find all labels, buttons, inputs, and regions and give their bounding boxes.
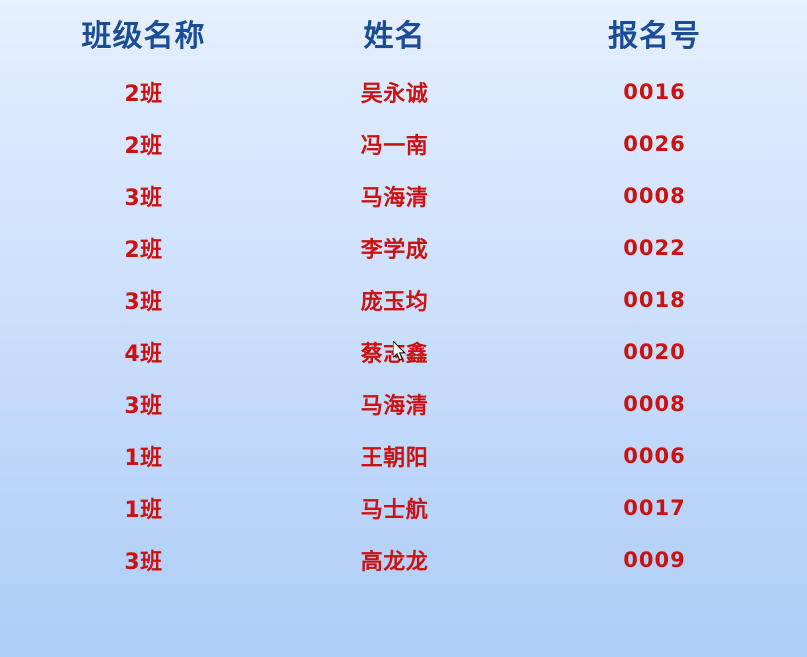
table-row[interactable]: 3班 庞玉均 0018 bbox=[0, 274, 807, 326]
cell-id: 0008 bbox=[502, 184, 807, 208]
table-row[interactable]: 3班 高龙龙 0009 bbox=[0, 534, 807, 586]
cell-name: 马海清 bbox=[287, 180, 502, 212]
table-row[interactable]: 4班 蔡志鑫 0020 bbox=[0, 326, 807, 378]
table-row[interactable]: 2班 李学成 0022 bbox=[0, 222, 807, 274]
cell-class: 2班 bbox=[0, 232, 287, 264]
cell-id: 0022 bbox=[502, 236, 807, 260]
cell-class: 1班 bbox=[0, 440, 287, 472]
cell-name: 马海清 bbox=[287, 388, 502, 420]
cell-name: 李学成 bbox=[287, 232, 502, 264]
table-row[interactable]: 2班 冯一南 0026 bbox=[0, 118, 807, 170]
cell-class: 2班 bbox=[0, 128, 287, 160]
cell-class: 3班 bbox=[0, 544, 287, 576]
cell-id: 0006 bbox=[502, 444, 807, 468]
bottom-control-bar: 开始滚动 班级4 学生28 停止滚动 W 系 统 之 家 bbox=[0, 595, 807, 657]
table-row[interactable]: 1班 王朝阳 0006 bbox=[0, 430, 807, 482]
cell-name: 吴永诚 bbox=[287, 76, 502, 108]
cell-class: 3班 bbox=[0, 284, 287, 316]
cell-id: 0016 bbox=[502, 80, 807, 104]
cell-name: 冯一南 bbox=[287, 128, 502, 160]
column-header-name: 姓名 bbox=[287, 11, 502, 55]
cell-name: 高龙龙 bbox=[287, 544, 502, 576]
cell-id: 0009 bbox=[502, 548, 807, 572]
cell-id: 0020 bbox=[502, 340, 807, 364]
cell-id: 0026 bbox=[502, 132, 807, 156]
cell-id: 0008 bbox=[502, 392, 807, 416]
table-row[interactable]: 2班 吴永诚 0016 bbox=[0, 66, 807, 118]
cell-class: 4班 bbox=[0, 336, 287, 368]
table-row[interactable]: 3班 马海清 0008 bbox=[0, 378, 807, 430]
cell-class: 1班 bbox=[0, 492, 287, 524]
column-header-class: 班级名称 bbox=[0, 11, 287, 55]
cell-id: 0017 bbox=[502, 496, 807, 520]
cell-id: 0018 bbox=[502, 288, 807, 312]
column-header-id: 报名号 bbox=[502, 11, 807, 55]
table-row[interactable]: 1班 马士航 0017 bbox=[0, 482, 807, 534]
cell-class: 3班 bbox=[0, 180, 287, 212]
roster-table: 班级名称 姓名 报名号 2班 吴永诚 0016 2班 冯一南 0026 3班 马… bbox=[0, 0, 807, 586]
cell-name: 蔡志鑫 bbox=[287, 336, 502, 368]
lottery-roster-screen: 班级名称 姓名 报名号 2班 吴永诚 0016 2班 冯一南 0026 3班 马… bbox=[0, 0, 807, 657]
cell-name: 王朝阳 bbox=[287, 440, 502, 472]
cell-class: 2班 bbox=[0, 76, 287, 108]
table-header-row: 班级名称 姓名 报名号 bbox=[0, 0, 807, 66]
cell-class: 3班 bbox=[0, 388, 287, 420]
cell-name: 庞玉均 bbox=[287, 284, 502, 316]
table-row[interactable]: 3班 马海清 0008 bbox=[0, 170, 807, 222]
cell-name: 马士航 bbox=[287, 492, 502, 524]
